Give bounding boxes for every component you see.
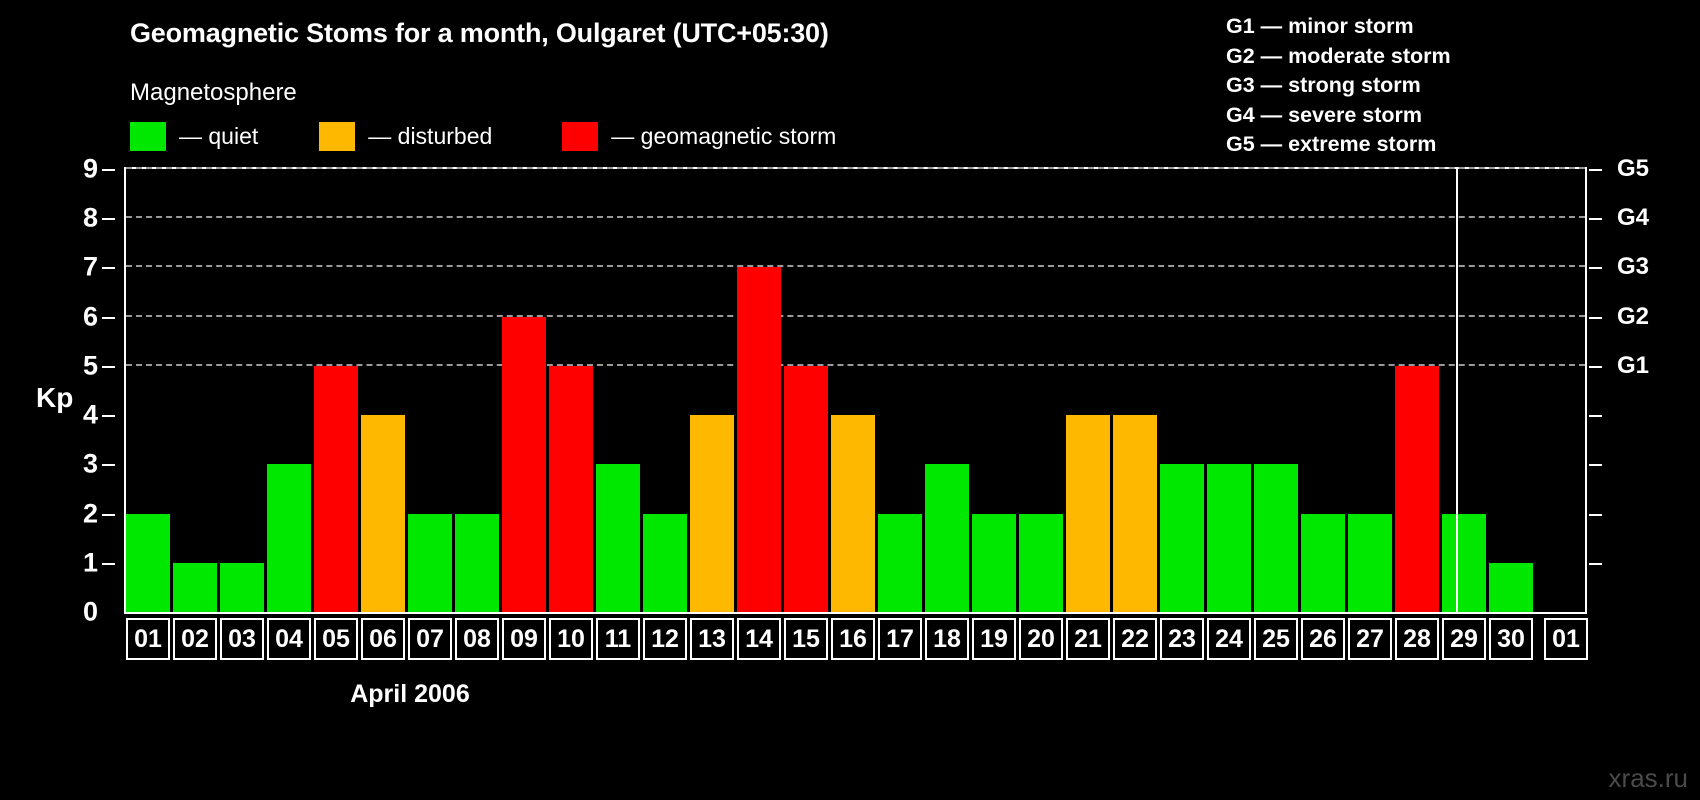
legend-swatch-quiet (130, 122, 166, 151)
bar-day-13[interactable] (690, 415, 734, 612)
legend-label-storm: — geomagnetic storm (611, 123, 836, 150)
y-tick-label-8: 8 (83, 203, 98, 234)
y-tick-mark (102, 169, 115, 171)
bar-day-14[interactable] (737, 267, 781, 612)
g-tick-label-G2: G2 (1617, 303, 1649, 331)
y-tick-label-2: 2 (83, 498, 98, 529)
bar-slot[interactable] (314, 169, 358, 612)
gscale-row-g4: G4 — severe storm (1226, 101, 1451, 131)
y-tick-label-9: 9 (83, 154, 98, 185)
bar-slot[interactable] (1348, 169, 1392, 612)
bar-slot[interactable] (737, 169, 781, 612)
bar-day-27[interactable] (1348, 514, 1392, 612)
day-label-10[interactable]: 11 (596, 618, 640, 660)
legend-swatch-storm (562, 122, 598, 151)
bar-slot[interactable] (972, 169, 1016, 612)
bar-day-21[interactable] (1066, 415, 1110, 612)
day-label-28[interactable]: 29 (1442, 618, 1486, 660)
bar-day-08[interactable] (455, 514, 499, 612)
day-label-14[interactable]: 15 (784, 618, 828, 660)
legend-item-disturbed: — disturbed (319, 122, 492, 151)
bar-slot[interactable] (1395, 169, 1439, 612)
bar-slot[interactable] (1442, 169, 1486, 612)
y-tick-mark (102, 464, 115, 466)
bar-slot[interactable] (878, 169, 922, 612)
y-tick-mark (102, 366, 115, 368)
legend-label-quiet: — quiet (179, 123, 258, 150)
day-label-25[interactable]: 26 (1301, 618, 1345, 660)
g-tick-mark (1589, 267, 1602, 269)
bar-day-30[interactable] (1489, 563, 1533, 612)
day-label-1[interactable]: 02 (173, 618, 217, 660)
bar-day-20[interactable] (1019, 514, 1063, 612)
day-label-19[interactable]: 20 (1019, 618, 1063, 660)
y-tick-label-3: 3 (83, 449, 98, 480)
bar-slot[interactable] (455, 169, 499, 612)
legend-item-storm: — geomagnetic storm (562, 122, 836, 151)
bar-day-23[interactable] (1160, 464, 1204, 612)
g-tick-label-G1: G1 (1617, 352, 1649, 380)
bar-series (126, 169, 1536, 612)
bar-slot[interactable] (831, 169, 875, 612)
x-axis-day-labels: 0102030405060708091011121314151617181920… (126, 618, 1591, 660)
bar-day-03[interactable] (220, 563, 264, 612)
page-title: Geomagnetic Stoms for a month, Oulgaret … (130, 18, 829, 49)
bar-day-09[interactable] (502, 317, 546, 612)
bar-day-05[interactable] (314, 366, 358, 612)
bar-day-28[interactable] (1395, 366, 1439, 612)
day-label-6[interactable]: 07 (408, 618, 452, 660)
bar-slot[interactable] (1301, 169, 1345, 612)
day-label-24[interactable]: 25 (1254, 618, 1298, 660)
bar-day-29[interactable] (1442, 514, 1486, 612)
day-label-30[interactable]: 01 (1544, 618, 1588, 660)
bar-slot[interactable] (925, 169, 969, 612)
g-tick-mark (1589, 464, 1602, 466)
bar-slot[interactable] (126, 169, 170, 612)
bar-slot[interactable] (596, 169, 640, 612)
bar-day-25[interactable] (1254, 464, 1298, 612)
y-tick-label-0: 0 (83, 597, 98, 628)
bar-day-15[interactable] (784, 366, 828, 612)
g-tick-mark (1589, 218, 1602, 220)
bar-day-17[interactable] (878, 514, 922, 612)
bar-day-02[interactable] (173, 563, 217, 612)
gscale-row-g3: G3 — strong storm (1226, 71, 1451, 101)
bar-day-07[interactable] (408, 514, 452, 612)
g-tick-mark (1589, 514, 1602, 516)
bar-slot[interactable] (1066, 169, 1110, 612)
y-tick-label-6: 6 (83, 301, 98, 332)
watermark: xras.ru (1609, 763, 1688, 794)
bar-day-24[interactable] (1207, 464, 1251, 612)
g-tick-mark (1589, 366, 1602, 368)
day-label-8[interactable]: 09 (502, 618, 546, 660)
y-tick-mark (102, 218, 115, 220)
g-tick-mark (1589, 563, 1602, 565)
bar-slot[interactable] (1489, 169, 1533, 612)
gscale-legend: G1 — minor storm G2 — moderate storm G3 … (1226, 12, 1451, 160)
day-label-26[interactable]: 27 (1348, 618, 1392, 660)
legend-item-quiet: — quiet (130, 122, 258, 151)
plot-area (126, 169, 1585, 612)
bar-slot[interactable] (173, 169, 217, 612)
day-label-2[interactable]: 03 (220, 618, 264, 660)
day-label-3[interactable]: 04 (267, 618, 311, 660)
day-label-22[interactable]: 23 (1160, 618, 1204, 660)
y-axis-title: Kp (36, 382, 73, 414)
day-label-13[interactable]: 14 (737, 618, 781, 660)
bar-slot[interactable] (408, 169, 452, 612)
y-tick-label-4: 4 (83, 400, 98, 431)
day-label-17[interactable]: 18 (925, 618, 969, 660)
bar-slot[interactable] (549, 169, 593, 612)
day-label-18[interactable]: 19 (972, 618, 1016, 660)
day-label-23[interactable]: 24 (1207, 618, 1251, 660)
month-divider (1456, 167, 1458, 614)
bar-day-22[interactable] (1113, 415, 1157, 612)
bar-day-19[interactable] (972, 514, 1016, 612)
y-tick-label-5: 5 (83, 350, 98, 381)
g-tick-label-G4: G4 (1617, 204, 1649, 232)
g-tick-mark (1589, 317, 1602, 319)
day-label-4[interactable]: 05 (314, 618, 358, 660)
y-tick-mark (102, 514, 115, 516)
magnetosphere-legend: — quiet — disturbed — geomagnetic storm (130, 122, 836, 151)
bar-day-26[interactable] (1301, 514, 1345, 612)
day-label-15[interactable]: 16 (831, 618, 875, 660)
bar-day-18[interactable] (925, 464, 969, 612)
bar-day-04[interactable] (267, 464, 311, 612)
day-label-21[interactable]: 22 (1113, 618, 1157, 660)
bar-day-06[interactable] (361, 415, 405, 612)
y-tick-label-7: 7 (83, 252, 98, 283)
y-axis-right: G1G2G3G4G5 (1587, 167, 1700, 614)
gscale-row-g5: G5 — extreme storm (1226, 130, 1451, 160)
legend-label-disturbed: — disturbed (368, 123, 492, 150)
magnetosphere-heading: Magnetosphere (130, 79, 297, 107)
bar-slot[interactable] (784, 169, 828, 612)
bar-day-12[interactable] (643, 514, 687, 612)
bar-slot[interactable] (1113, 169, 1157, 612)
gscale-row-g2: G2 — moderate storm (1226, 42, 1451, 72)
day-label-27[interactable]: 28 (1395, 618, 1439, 660)
day-label-12[interactable]: 13 (690, 618, 734, 660)
y-tick-mark (102, 317, 115, 319)
day-label-5[interactable]: 06 (361, 618, 405, 660)
legend-swatch-disturbed (319, 122, 355, 151)
y-tick-mark (102, 267, 115, 269)
y-tick-mark (102, 415, 115, 417)
g-tick-mark (1589, 415, 1602, 417)
g-tick-label-G3: G3 (1617, 253, 1649, 281)
bar-day-11[interactable] (596, 464, 640, 612)
day-label-16[interactable]: 17 (878, 618, 922, 660)
day-label-7[interactable]: 08 (455, 618, 499, 660)
bar-day-01[interactable] (126, 514, 170, 612)
g-tick-label-G5: G5 (1617, 155, 1649, 183)
day-label-29[interactable]: 30 (1489, 618, 1533, 660)
bar-slot[interactable] (220, 169, 264, 612)
y-tick-mark (102, 563, 115, 565)
g-tick-mark (1589, 169, 1602, 171)
bar-slot[interactable] (1160, 169, 1204, 612)
bar-slot[interactable] (1254, 169, 1298, 612)
bar-day-16[interactable] (831, 415, 875, 612)
bar-slot[interactable] (267, 169, 311, 612)
bar-day-10[interactable] (549, 366, 593, 612)
day-label-20[interactable]: 21 (1066, 618, 1110, 660)
bar-slot[interactable] (1019, 169, 1063, 612)
day-label-9[interactable]: 10 (549, 618, 593, 660)
bar-slot[interactable] (1207, 169, 1251, 612)
bar-slot[interactable] (361, 169, 405, 612)
day-label-11[interactable]: 12 (643, 618, 687, 660)
bar-slot[interactable] (690, 169, 734, 612)
y-tick-label-1: 1 (83, 547, 98, 578)
day-label-0[interactable]: 01 (126, 618, 170, 660)
bar-slot[interactable] (502, 169, 546, 612)
bar-slot[interactable] (643, 169, 687, 612)
gscale-row-g1: G1 — minor storm (1226, 12, 1451, 42)
x-axis-title: April 2006 (0, 680, 1700, 709)
